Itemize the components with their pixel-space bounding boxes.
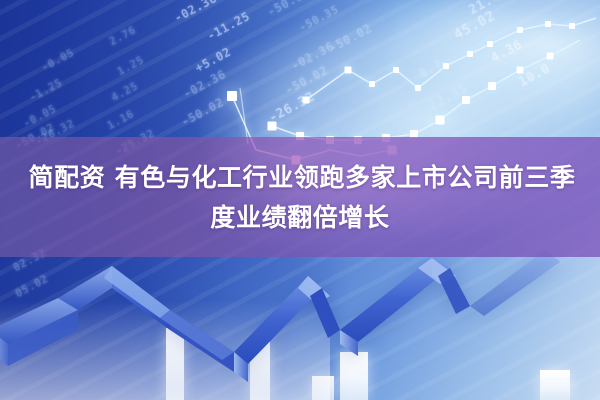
headline-line-1: 简配资 有色与化工行业领跑多家上市公司前三季 (0, 158, 600, 198)
banner-image: -50.0221.4-02.36-50.3545.022.76-11.25-50… (0, 0, 600, 400)
headline-line-2: 度业绩翻倍增长 (0, 198, 600, 238)
page-title: 简配资 有色与化工行业领跑多家上市公司前三季 度业绩翻倍增长 (0, 158, 600, 238)
